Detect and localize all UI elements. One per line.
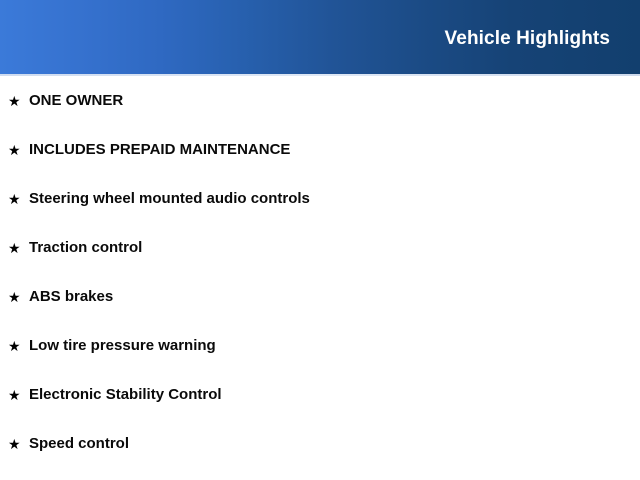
list-item: ★ Electronic Stability Control xyxy=(0,370,640,419)
list-item-label: Traction control xyxy=(29,239,142,257)
star-icon: ★ xyxy=(8,387,29,403)
vehicle-highlights-page: Vehicle Highlights ★ ONE OWNER ★ INCLUDE… xyxy=(0,0,640,480)
list-item: ★ INCLUDES PREPAID MAINTENANCE xyxy=(0,125,640,174)
star-icon: ★ xyxy=(8,93,29,109)
list-item-label: Steering wheel mounted audio controls xyxy=(29,190,310,208)
page-title: Vehicle Highlights xyxy=(445,28,610,50)
star-icon: ★ xyxy=(8,436,29,452)
list-item-label: ABS brakes xyxy=(29,288,113,306)
list-item: ★ ONE OWNER xyxy=(0,76,640,125)
list-item: ★ ABS brakes xyxy=(0,272,640,321)
list-item-label: ONE OWNER xyxy=(29,92,123,110)
list-item-label: Electronic Stability Control xyxy=(29,386,222,404)
list-item-label: INCLUDES PREPAID MAINTENANCE xyxy=(29,141,290,159)
star-icon: ★ xyxy=(8,338,29,354)
star-icon: ★ xyxy=(8,191,29,207)
star-icon: ★ xyxy=(8,142,29,158)
list-item-label: Low tire pressure warning xyxy=(29,337,216,355)
list-item: ★ Traction control xyxy=(0,223,640,272)
star-icon: ★ xyxy=(8,289,29,305)
vehicle-highlights-list: ★ ONE OWNER ★ INCLUDES PREPAID MAINTENAN… xyxy=(0,76,640,468)
list-item-label: Speed control xyxy=(29,435,129,453)
list-item: ★ Low tire pressure warning xyxy=(0,321,640,370)
list-item: ★ Speed control xyxy=(0,419,640,468)
list-item: ★ Steering wheel mounted audio controls xyxy=(0,174,640,223)
star-icon: ★ xyxy=(8,240,29,256)
